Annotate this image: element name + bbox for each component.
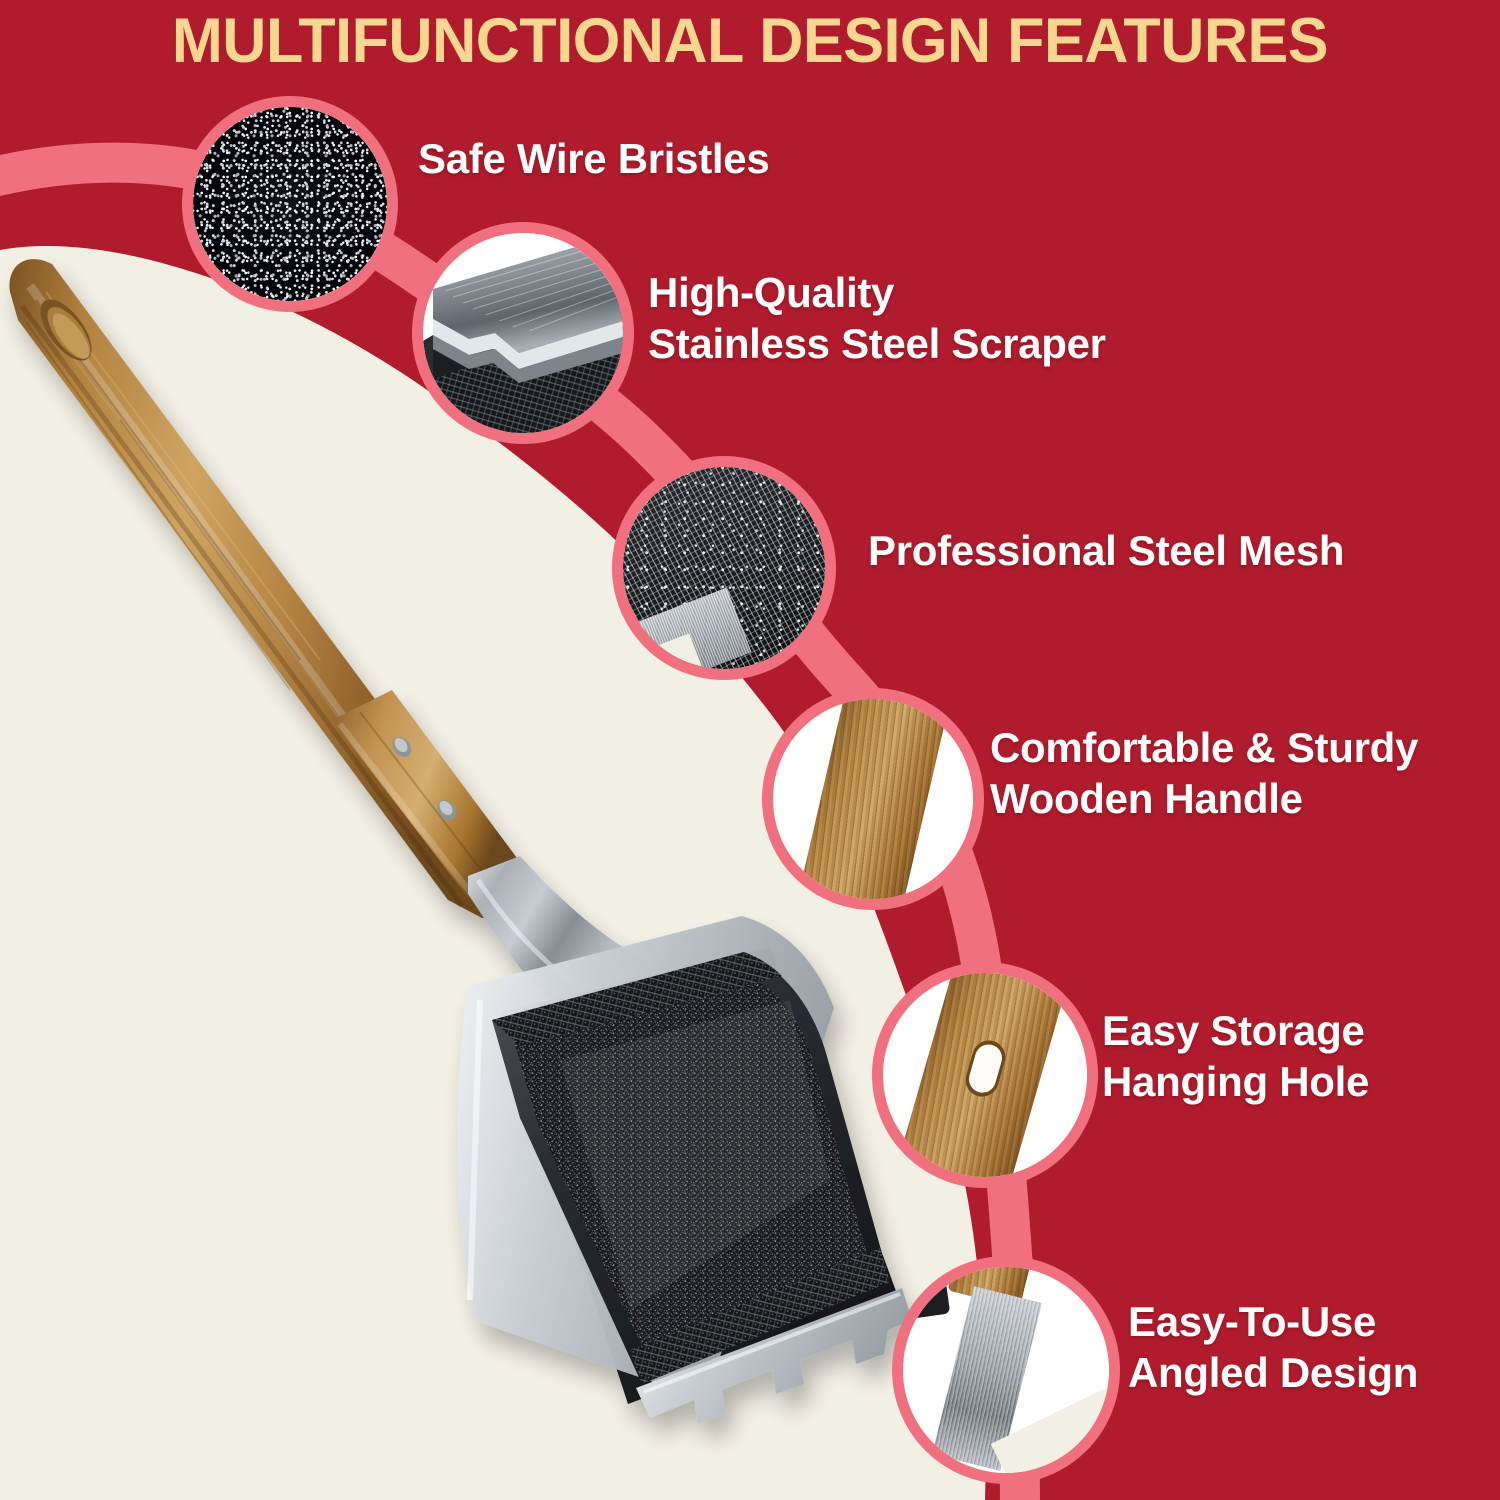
feature-label-line: Hanging Hole xyxy=(1102,1056,1369,1107)
feature-label-safe-wire-bristles: Safe Wire Bristles xyxy=(418,133,769,184)
brush-corner-shadow xyxy=(903,1267,949,1326)
feature-label-angled-design: Easy-To-Use Angled Design xyxy=(1128,1296,1418,1398)
feature-label-line: High-Quality xyxy=(648,267,1106,318)
infographic-canvas: MULTIFUNCTIONAL DESIGN FEATURES Safe Wir… xyxy=(0,0,1500,1500)
callout-circle-safe-wire-bristles xyxy=(182,96,398,312)
feature-label-wooden-handle: Comfortable & Sturdy Wooden Handle xyxy=(990,722,1418,824)
steel-mesh-icon xyxy=(623,467,825,669)
title-text: MULTIFUNCTIONAL DESIGN FEATURES xyxy=(172,8,1328,74)
feature-label-line: Comfortable & Sturdy xyxy=(990,722,1418,773)
callout-circle-wooden-handle xyxy=(762,688,984,910)
feature-label-line: Professional Steel Mesh xyxy=(868,525,1344,576)
callout-circle-hanging-hole xyxy=(872,962,1098,1188)
feature-label-line: Stainless Steel Scraper xyxy=(648,318,1106,369)
feature-label-stainless-steel-scraper: High-Quality Stainless Steel Scraper xyxy=(648,267,1106,369)
feature-label-line: Easy Storage xyxy=(1102,1005,1369,1056)
steel-wool-texture-icon xyxy=(193,107,387,301)
infographic-title: MULTIFUNCTIONAL DESIGN FEATURES xyxy=(0,8,1500,74)
feature-label-professional-steel-mesh: Professional Steel Mesh xyxy=(868,525,1344,576)
feature-label-line: Angled Design xyxy=(1128,1347,1418,1398)
callout-circle-stainless-steel-scraper xyxy=(412,222,634,444)
callout-circle-professional-steel-mesh xyxy=(612,456,836,680)
scraper-blade-icon xyxy=(423,233,623,433)
wooden-handle-icon xyxy=(773,699,973,899)
hanging-hole-icon xyxy=(883,973,1087,1177)
feature-label-line: Easy-To-Use xyxy=(1128,1296,1418,1347)
feature-label-line: Wooden Handle xyxy=(990,773,1418,824)
angled-neck-icon xyxy=(903,1267,1109,1473)
feature-label-line: Safe Wire Bristles xyxy=(418,133,769,184)
feature-label-hanging-hole: Easy Storage Hanging Hole xyxy=(1102,1005,1369,1107)
callout-circle-angled-design xyxy=(892,1256,1120,1484)
